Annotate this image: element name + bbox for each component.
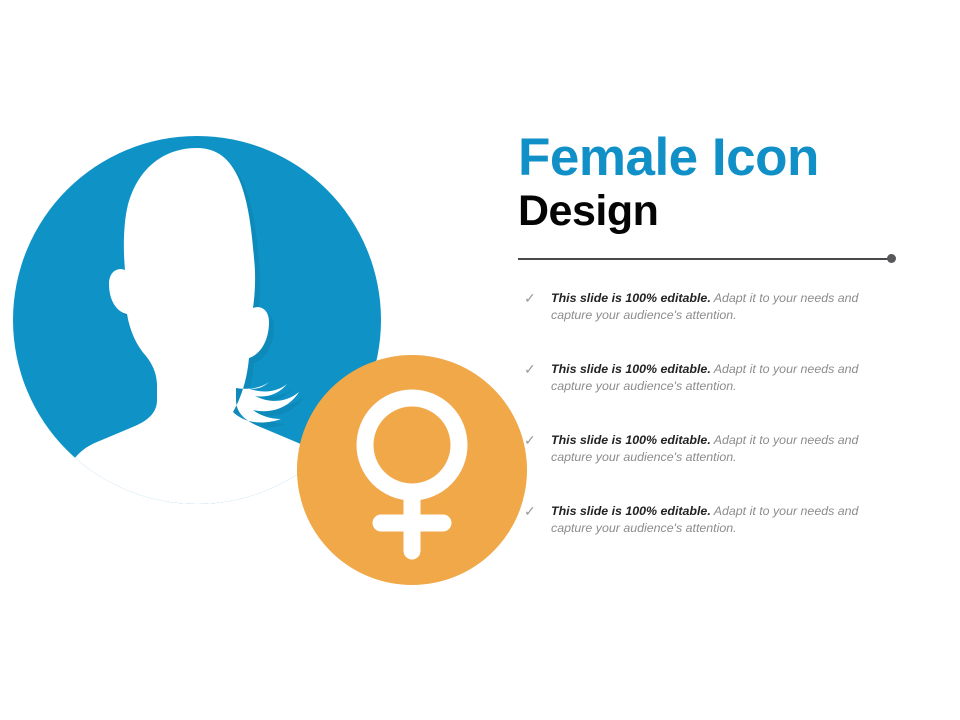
divider-end-dot (887, 254, 896, 263)
list-item-lead: This slide is 100% editable. (551, 362, 711, 376)
check-icon: ✓ (524, 503, 536, 520)
check-icon: ✓ (524, 432, 536, 449)
list-item: ✓ This slide is 100% editable. Adapt it … (518, 361, 891, 395)
check-icon: ✓ (524, 361, 536, 378)
title-primary: Female Icon (518, 132, 918, 184)
bullet-list: ✓ This slide is 100% editable. Adapt it … (518, 290, 918, 537)
list-item: ✓ This slide is 100% editable. Adapt it … (518, 432, 891, 466)
list-item-text: This slide is 100% editable. Adapt it to… (551, 361, 891, 395)
divider (518, 254, 896, 264)
list-item: ✓ This slide is 100% editable. Adapt it … (518, 503, 891, 537)
list-item-lead: This slide is 100% editable. (551, 433, 711, 447)
list-item-text: This slide is 100% editable. Adapt it to… (551, 503, 891, 537)
female-venus-symbol-icon (297, 355, 527, 585)
check-icon: ✓ (524, 290, 536, 307)
text-content-area: Female Icon Design ✓ This slide is 100% … (518, 132, 918, 537)
divider-line (518, 258, 888, 260)
list-item-lead: This slide is 100% editable. (551, 504, 711, 518)
list-item: ✓ This slide is 100% editable. Adapt it … (518, 290, 891, 324)
slide-canvas: Female Icon Design ✓ This slide is 100% … (0, 0, 960, 720)
list-item-text: This slide is 100% editable. Adapt it to… (551, 432, 891, 466)
list-item-lead: This slide is 100% editable. (551, 291, 711, 305)
page-title: Female Icon Design (518, 132, 918, 232)
graphic-area (0, 0, 540, 720)
title-secondary: Design (518, 190, 918, 232)
list-item-text: This slide is 100% editable. Adapt it to… (551, 290, 891, 324)
